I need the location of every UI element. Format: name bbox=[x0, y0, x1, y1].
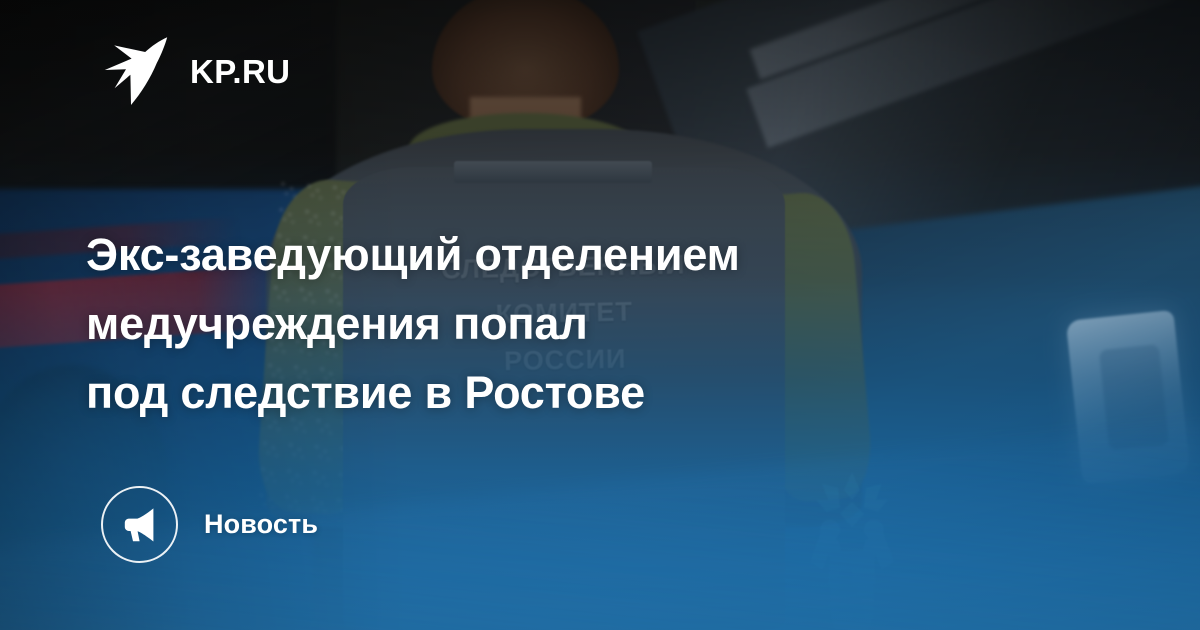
megaphone-icon bbox=[120, 505, 160, 545]
brand-logo[interactable]: KP.RU bbox=[104, 36, 290, 106]
card-foreground: KP.RU Экс-заведующий отделением медучреж… bbox=[0, 0, 1200, 630]
news-share-card: СЛЕДСТВЕННЫЙ КОМИТЕТ РОССИИ bbox=[0, 0, 1200, 630]
status-badge[interactable]: Новость bbox=[101, 486, 318, 563]
swallow-bird-icon bbox=[104, 36, 168, 106]
page-title: Экс-заведующий отделением медучреждения … bbox=[86, 220, 1026, 427]
status-badge-label: Новость bbox=[204, 511, 318, 538]
badge-icon-circle bbox=[101, 486, 178, 563]
brand-name: KP.RU bbox=[190, 55, 290, 88]
